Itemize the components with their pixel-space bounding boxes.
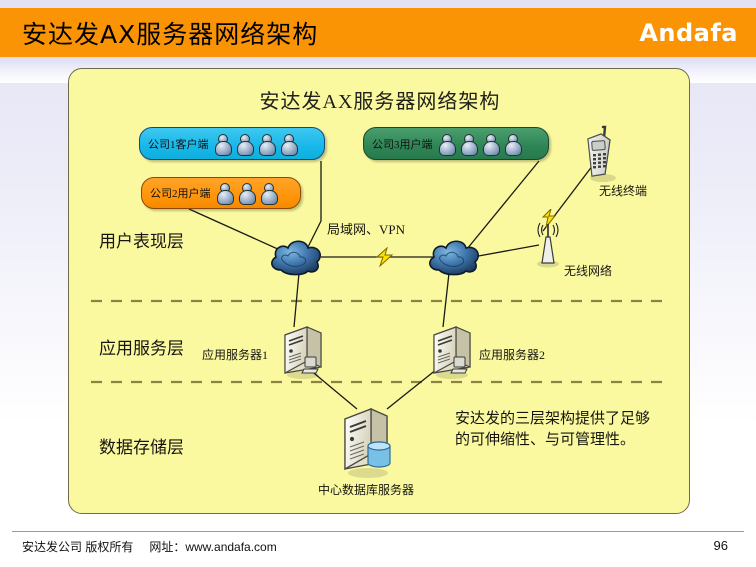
caption-wireless-network: 无线网络 — [564, 262, 612, 279]
client-group-company3[interactable]: 公司3用户端 — [363, 127, 549, 160]
antenna-tower-icon — [528, 221, 568, 274]
server-icon — [277, 323, 329, 386]
cloud-icon — [267, 237, 325, 284]
caption-wireless-terminal: 无线终端 — [599, 182, 647, 199]
diagram-title: 安达发AX服务器网络架构 — [69, 85, 691, 114]
person-icon — [439, 134, 454, 154]
lightning-bolt-icon — [374, 247, 396, 272]
cloud-icon — [425, 237, 483, 284]
architecture-note: 安达发的三层架构提供了足够的可伸缩性、与可管理性。 — [455, 409, 655, 451]
people-icons — [215, 134, 296, 154]
slide-header: 安达发AX服务器网络架构 Andafa — [0, 8, 756, 57]
caption-db-server: 中心数据库服务器 — [318, 481, 414, 498]
person-icon — [237, 134, 252, 154]
people-icons — [439, 134, 520, 154]
database-server-icon — [335, 403, 401, 484]
footer-website: 网址：www.andafa.com — [149, 538, 276, 555]
client-group-label: 公司3用户端 — [372, 136, 433, 152]
person-icon — [461, 134, 476, 154]
client-group-label: 公司1客户端 — [148, 136, 209, 152]
person-icon — [259, 134, 274, 154]
server-icon — [426, 323, 478, 386]
person-icon — [505, 134, 520, 154]
client-group-company2[interactable]: 公司2用户端 — [141, 177, 301, 209]
diagram-panel: 安达发AX服务器网络架构 — [68, 68, 690, 514]
person-icon — [483, 134, 498, 154]
brand-logo: Andafa — [639, 19, 738, 47]
page-number: 96 — [714, 538, 728, 553]
caption-app-server-1: 应用服务器1 — [202, 346, 268, 363]
caption-app-server-2: 应用服务器2 — [479, 346, 545, 363]
client-group-company1[interactable]: 公司1客户端 — [139, 127, 325, 160]
people-icons — [217, 183, 276, 203]
person-icon — [261, 183, 276, 203]
page-title: 安达发AX服务器网络架构 — [22, 15, 318, 51]
layer-label-presentation: 用户表现层 — [99, 227, 184, 252]
layer-label-application: 应用服务层 — [99, 334, 184, 359]
person-icon — [217, 183, 232, 203]
person-icon — [239, 183, 254, 203]
caption-lan-vpn: 局域网、VPN — [327, 219, 405, 238]
footer-divider — [12, 531, 744, 532]
mobile-phone-icon — [579, 124, 619, 189]
footer-copyright: 安达发公司 版权所有 — [22, 538, 133, 555]
person-icon — [215, 134, 230, 154]
person-icon — [281, 134, 296, 154]
slide: 安达发AX服务器网络架构 Andafa 安达发AX服务器网络架构 — [0, 0, 756, 567]
client-group-label: 公司2用户端 — [150, 185, 211, 201]
layer-label-data: 数据存储层 — [99, 433, 184, 458]
slide-footer: 安达发公司 版权所有 网址：www.andafa.com — [22, 538, 277, 555]
